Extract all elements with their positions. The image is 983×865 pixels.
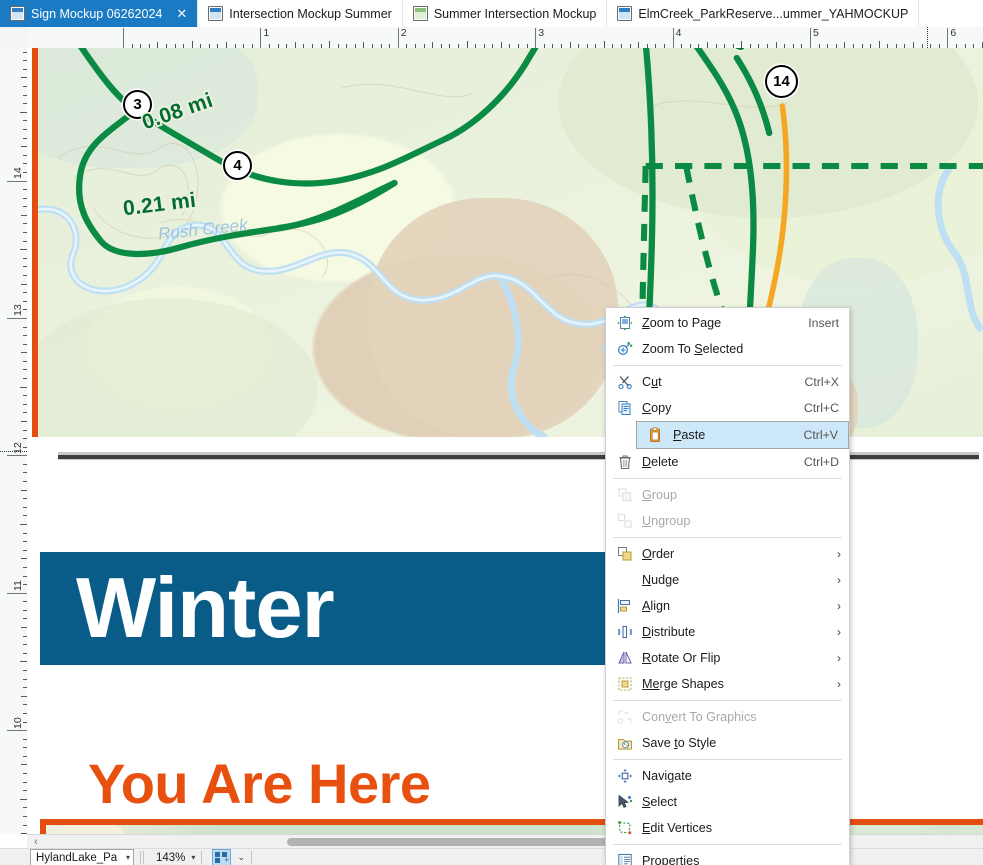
align-icon	[614, 597, 636, 615]
menu-item-shortcut: Ctrl+V	[803, 428, 842, 442]
ruler-label: 4	[676, 27, 682, 39]
divider	[140, 851, 141, 864]
menu-item-shortcut: Ctrl+C	[804, 401, 843, 415]
document-tab-bar: Sign Mockup 06262024 ✕ Intersection Mock…	[0, 0, 983, 29]
ruler-tick	[260, 28, 261, 48]
sign-subtitle-text: You Are Here	[88, 756, 431, 812]
plus-glyph: +	[224, 856, 229, 865]
ruler-tick	[398, 28, 399, 48]
layout-page-icon	[208, 6, 223, 21]
page-guide	[927, 27, 928, 48]
ruler-label: 10	[12, 717, 24, 729]
order-icon	[614, 545, 636, 563]
menu-item-navigate[interactable]: Navigate	[606, 763, 849, 789]
select-arrow-icon	[614, 793, 636, 811]
ruler-tick	[879, 41, 880, 48]
tab-summer-intersection-mockup[interactable]: Summer Intersection Mockup	[403, 0, 608, 27]
ruler-tick	[947, 28, 948, 48]
copy-icon	[614, 399, 636, 417]
menu-item-merge-shapes[interactable]: Merge Shapes›	[606, 671, 849, 697]
menu-item-label: Merge Shapes	[642, 677, 837, 691]
menu-item-edit-vertices[interactable]: Edit Vertices	[606, 815, 849, 841]
ruler-tick	[123, 28, 124, 48]
submenu-arrow-icon: ›	[837, 573, 843, 587]
group-icon	[614, 486, 636, 504]
scroll-left-arrow-icon[interactable]: ‹	[30, 836, 42, 848]
menu-item-label: Delete	[642, 455, 804, 469]
ruler-label: 3	[538, 27, 544, 39]
menu-item-label: Navigate	[642, 769, 843, 783]
menu-item-save-to-style[interactable]: Save to Style	[606, 730, 849, 756]
ruler-tick	[329, 41, 330, 48]
ruler-label: 2	[401, 27, 407, 39]
menu-item-copy[interactable]: CopyCtrl+C	[606, 395, 849, 421]
ruler-tick	[20, 112, 27, 113]
map-page-icon	[413, 6, 428, 21]
submenu-arrow-icon: ›	[837, 599, 843, 613]
ruler-tick	[535, 28, 536, 48]
menu-item-label: Rotate Or Flip	[642, 651, 837, 665]
map-marker[interactable]: 14	[765, 65, 798, 98]
menu-item-convert-to-graphics: Convert To Graphics	[606, 704, 849, 730]
edit-vertices-icon	[614, 819, 636, 837]
menu-item-label: Copy	[642, 401, 804, 415]
menu-item-properties[interactable]: Properties	[606, 848, 849, 865]
ruler-tick	[7, 593, 27, 594]
ungroup-icon	[614, 512, 636, 530]
ruler-tick	[673, 28, 674, 48]
menu-separator	[613, 365, 842, 366]
close-icon[interactable]: ✕	[176, 7, 187, 20]
menu-item-ungroup: Ungroup	[606, 508, 849, 534]
grid-add-icon[interactable]: +	[212, 849, 231, 865]
ruler-tick	[192, 41, 193, 48]
tab-intersection-mockup-summer[interactable]: Intersection Mockup Summer	[198, 0, 403, 27]
tab-elmcreek-parkreserve[interactable]: ElmCreek_ParkReserve...ummer_YAHMOCKUP	[607, 0, 919, 27]
menu-item-delete[interactable]: DeleteCtrl+D	[606, 449, 849, 475]
divider	[143, 851, 144, 864]
ruler-tick	[20, 524, 27, 525]
menu-separator	[613, 844, 842, 845]
submenu-arrow-icon: ›	[837, 547, 843, 561]
ruler-tick	[7, 455, 27, 456]
chevron-down-icon: ▾	[126, 853, 130, 862]
ruler-label: 1	[263, 27, 269, 39]
menu-item-shortcut: Insert	[808, 316, 843, 330]
submenu-arrow-icon: ›	[837, 625, 843, 639]
ruler-tick	[20, 661, 27, 662]
menu-item-label: Properties	[642, 854, 843, 865]
ruler-tick	[20, 249, 27, 250]
map-marker[interactable]: 4	[223, 151, 252, 180]
menu-item-zoom-to-page[interactable]: Zoom to PageInsert	[606, 310, 849, 336]
distribute-icon	[614, 623, 636, 641]
menu-separator	[613, 537, 842, 538]
ruler-label: 5	[813, 27, 819, 39]
divider	[201, 851, 202, 864]
ruler-tick	[7, 181, 27, 182]
sign-title-text: Winter	[76, 566, 334, 651]
horizontal-ruler[interactable]: 1234567	[27, 27, 983, 49]
no-icon	[614, 571, 636, 589]
save-style-icon	[614, 734, 636, 752]
menu-item-zoom-to-selected[interactable]: Zoom To Selected	[606, 336, 849, 362]
context-menu[interactable]: Zoom to PageInsert Zoom To Selected CutC…	[605, 307, 850, 865]
menu-item-label: Nudge	[642, 573, 837, 587]
submenu-arrow-icon: ›	[837, 651, 843, 665]
menu-item-label: Paste	[673, 428, 803, 442]
ruler-tick	[7, 730, 27, 731]
ruler-tick	[604, 41, 605, 48]
chevron-down-icon: ▾	[191, 853, 195, 862]
layer-selector-value: HylandLake_Pa	[36, 852, 117, 864]
ruler-corner	[0, 27, 28, 49]
zoom-to-page-icon	[614, 314, 636, 332]
ruler-tick	[7, 318, 27, 319]
layer-selector-dropdown[interactable]: HylandLake_Pa ▾	[30, 849, 134, 865]
menu-item-group: Group	[606, 482, 849, 508]
menu-item-shortcut: Ctrl+X	[804, 375, 843, 389]
ruler-tick	[20, 387, 27, 388]
ruler-label: 11	[12, 580, 24, 591]
merge-shapes-icon	[614, 675, 636, 693]
menu-item-nudge[interactable]: Nudge›	[606, 567, 849, 593]
menu-item-label: Select	[642, 795, 843, 809]
menu-item-label: Zoom To Selected	[642, 342, 843, 356]
menu-item-label: Convert To Graphics	[642, 710, 843, 724]
menu-item-label: Ungroup	[642, 514, 843, 528]
menu-item-select[interactable]: Select	[606, 789, 849, 815]
ruler-tick	[20, 799, 27, 800]
zoom-level-value: 143%	[156, 852, 185, 864]
clipboard-icon	[645, 426, 667, 444]
trash-icon	[614, 453, 636, 471]
menu-item-shortcut: Ctrl+D	[804, 455, 843, 469]
rotate-flip-icon	[614, 649, 636, 667]
convert-graphics-icon	[614, 708, 636, 726]
menu-separator	[613, 759, 842, 760]
page-guide	[0, 451, 27, 452]
ruler-label: 6	[950, 27, 956, 39]
menu-item-label: Order	[642, 547, 837, 561]
menu-separator	[613, 478, 842, 479]
menu-item-distribute[interactable]: Distribute›	[606, 619, 849, 645]
ruler-tick	[467, 41, 468, 48]
menu-item-paste[interactable]: PasteCtrl+V	[636, 421, 849, 449]
submenu-arrow-icon: ›	[837, 677, 843, 691]
menu-item-label: Edit Vertices	[642, 821, 843, 835]
chevron-down-icon[interactable]: ⌄	[237, 852, 245, 863]
divider	[251, 851, 252, 864]
tab-label: Intersection Mockup Summer	[229, 7, 392, 21]
ruler-tick	[741, 41, 742, 48]
tab-label: ElmCreek_ParkReserve...ummer_YAHMOCKUP	[638, 7, 908, 21]
menu-item-label: Cut	[642, 375, 804, 389]
properties-icon	[614, 852, 636, 865]
ruler-label: 14	[12, 167, 24, 179]
layout-page-icon	[617, 6, 632, 21]
menu-item-align[interactable]: Align›	[606, 593, 849, 619]
menu-item-cut[interactable]: CutCtrl+X	[606, 369, 849, 395]
menu-separator	[613, 700, 842, 701]
scissors-icon	[614, 373, 636, 391]
tab-label: Summer Intersection Mockup	[434, 7, 597, 21]
menu-item-label: Group	[642, 488, 843, 502]
ruler-tick	[810, 28, 811, 48]
tab-label: Sign Mockup 06262024	[31, 7, 162, 21]
ruler-label: 12	[12, 442, 24, 454]
menu-item-label: Distribute	[642, 625, 837, 639]
tab-sign-mockup[interactable]: Sign Mockup 06262024 ✕	[0, 0, 198, 27]
zoom-to-selected-icon	[614, 340, 636, 358]
layout-page-icon	[10, 6, 25, 21]
menu-item-rotate-or-flip[interactable]: Rotate Or Flip›	[606, 645, 849, 671]
vertical-ruler[interactable]: 1413121110	[0, 48, 28, 834]
menu-item-label: Save to Style	[642, 736, 843, 750]
menu-item-order[interactable]: Order›	[606, 541, 849, 567]
menu-item-label: Align	[642, 599, 837, 613]
navigate-icon	[614, 767, 636, 785]
ruler-label: 13	[12, 305, 24, 317]
menu-item-label: Zoom to Page	[642, 316, 808, 330]
zoom-level-dropdown[interactable]: 143% ▾	[156, 852, 195, 864]
